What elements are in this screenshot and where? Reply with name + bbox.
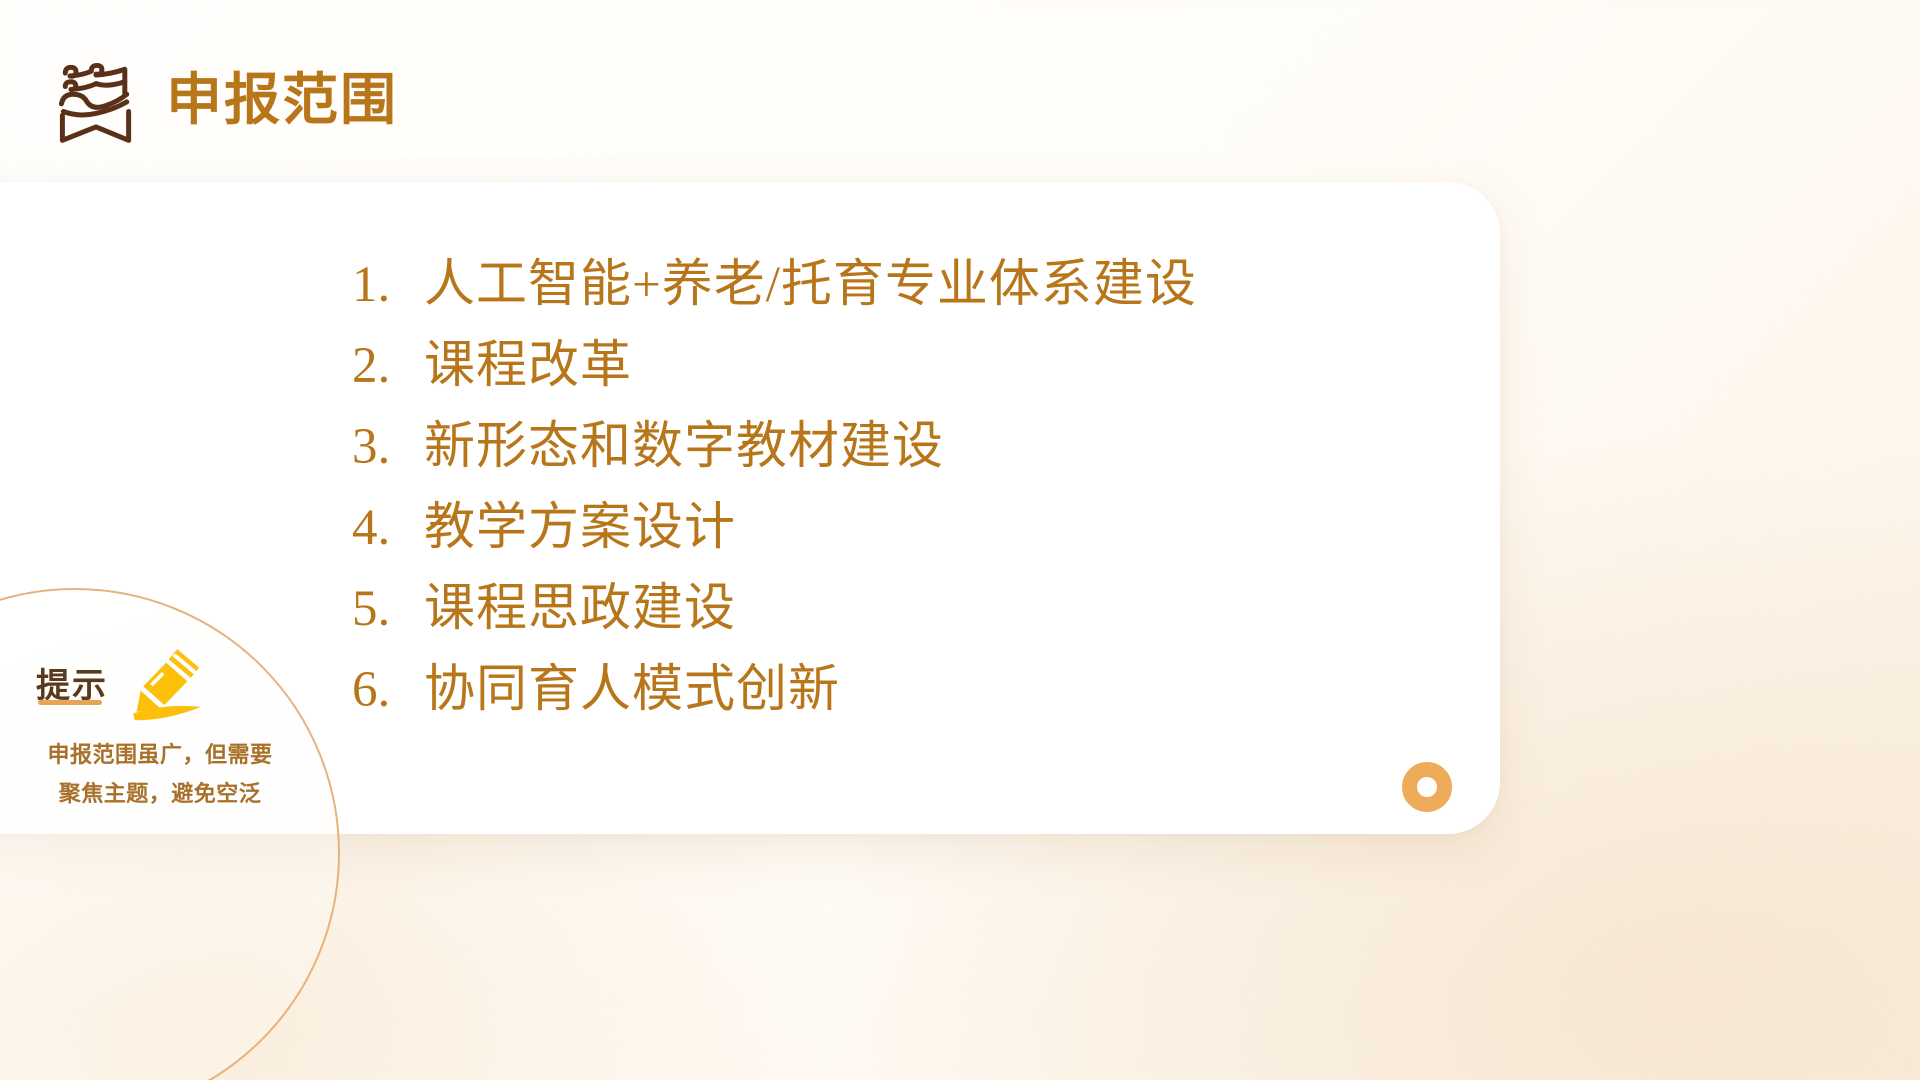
list-item-number: 6. bbox=[352, 665, 424, 716]
tip-body-line-2: 聚焦主题，避免空泛 bbox=[30, 775, 290, 814]
list-item-number: 4. bbox=[352, 503, 424, 554]
page-title: 申报范围 bbox=[166, 72, 398, 128]
tip-block: 提示 申报范围虽广，但需要 聚焦主题，避免空泛 bbox=[0, 588, 345, 1080]
tip-label: 提示 bbox=[36, 669, 108, 703]
list-item-number: 5. bbox=[352, 584, 424, 635]
decorative-ring-icon bbox=[1402, 762, 1452, 812]
book-wave-icon bbox=[48, 52, 144, 148]
page-header: 申报范围 bbox=[48, 52, 398, 148]
tip-body-line-1: 申报范围虽广，但需要 bbox=[30, 736, 290, 775]
list-item-number: 2. bbox=[352, 341, 424, 392]
list-item-label: 新形态和数字教材建设 bbox=[424, 422, 944, 473]
list-item-number: 1. bbox=[352, 260, 424, 311]
list-item-label: 协同育人模式创新 bbox=[424, 665, 840, 716]
tip-underline bbox=[38, 700, 102, 705]
list-item: 4. 教学方案设计 bbox=[352, 503, 1197, 554]
list-item-label: 课程思政建设 bbox=[424, 584, 736, 635]
list-item-number: 3. bbox=[352, 422, 424, 473]
tip-body: 申报范围虽广，但需要 聚焦主题，避免空泛 bbox=[30, 736, 290, 813]
list-item: 1. 人工智能+养老/托育专业体系建设 bbox=[352, 260, 1197, 311]
tip-header: 提示 bbox=[36, 650, 210, 722]
list-item-label: 人工智能+养老/托育专业体系建设 bbox=[424, 260, 1197, 311]
list-item-label: 教学方案设计 bbox=[424, 503, 736, 554]
list-item: 3. 新形态和数字教材建设 bbox=[352, 422, 1197, 473]
scope-list: 1. 人工智能+养老/托育专业体系建设 2. 课程改革 3. 新形态和数字教材建… bbox=[352, 260, 1197, 716]
list-item: 2. 课程改革 bbox=[352, 341, 1197, 392]
pencil-icon bbox=[124, 650, 210, 722]
list-item-label: 课程改革 bbox=[424, 341, 632, 392]
list-item: 6. 协同育人模式创新 bbox=[352, 665, 1197, 716]
list-item: 5. 课程思政建设 bbox=[352, 584, 1197, 635]
